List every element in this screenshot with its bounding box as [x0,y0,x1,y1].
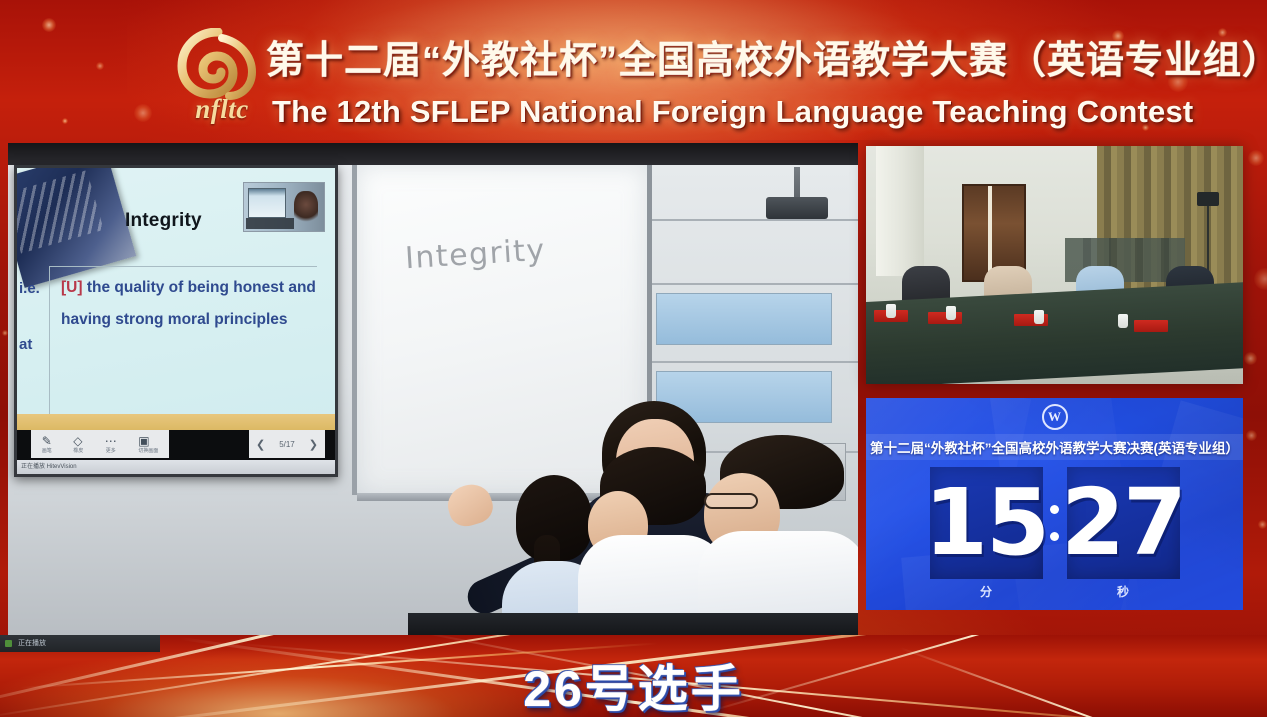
dictionary-book-icon [17,168,136,288]
slide-taskbar: 正在播放 HitevVision [17,460,335,474]
contestant-caption: 26号选手 [0,649,1267,717]
eraser-label: 橡皮 [73,447,83,454]
eraser-tool[interactable]: ◇ 橡皮 [73,435,83,454]
nfltc-wordmark: nfltc [168,94,276,125]
water-cup-1 [886,304,896,318]
student-3-glasses-icon [704,493,758,509]
hall-pillar [876,146,924,276]
more-label: 更多 [105,447,117,454]
nfltc-spiral-logo-icon [176,28,260,100]
projection-screen[interactable]: Integrity i.e. at [U] the quality of bei… [14,165,338,477]
chevron-left-icon[interactable]: ❮ [256,438,265,451]
presentation-slide: Integrity i.e. at [U] the quality of bei… [17,168,335,474]
ceiling-strip [8,143,858,165]
projector-arm [794,167,800,201]
name-card-2 [928,312,962,324]
slide-title: Integrity [125,210,202,232]
main-lecture-video-feed[interactable]: Integrity Integrity i.e. at [U] the qual… [8,143,858,635]
minutes-unit-label: 分 [930,583,1043,600]
contest-emblem-icon: W [1042,404,1068,430]
seconds-display: 27 [1067,467,1180,579]
screen-icon: ▣ [138,435,158,447]
countdown-timer-panel[interactable]: W 第十二届“外教社杯”全国高校外语教学大赛决赛(英语专业组） 15 27 分 … [866,398,1243,610]
water-cup-4 [1118,314,1128,328]
pen-icon: ✎ [42,435,52,447]
slide-page-nav[interactable]: ❮ 5/17 ❯ [249,430,325,458]
water-cup-3 [1034,310,1044,324]
desk-edge [408,613,858,635]
slide-pos-marker: [U] [61,279,83,296]
slide-definition-line1: [U] the quality of being honest and [61,278,333,298]
screen-switch-tool[interactable]: ▣ 切换画面 [138,435,158,454]
judges-camera-feed[interactable] [866,146,1243,384]
more-icon: ⋯ [105,435,117,447]
slide-toolbar-left[interactable]: ✎ 画笔 ◇ 橡皮 ⋯ 更多 ▣ 切换画面 [31,430,169,458]
slide-at-label: at [19,336,32,353]
more-tool[interactable]: ⋯ 更多 [105,435,117,454]
slide-bottom-bar [17,414,335,430]
page-indicator: 5/17 [279,440,295,449]
name-card-4 [1134,320,1168,332]
timer-contest-title: 第十二届“外教社杯”全国高校外语教学大赛决赛(英语专业组） [866,434,1243,460]
students-foreground [408,435,858,635]
nfltc-logo: nfltc [168,28,276,132]
video-thumbnail-icon[interactable] [243,182,325,232]
bottom-caption-band: 正在播放 26号选手 [0,635,1267,717]
timer-unit-labels: 分 秒 [866,583,1243,600]
contest-header-banner: nfltc 第十二届“外教社杯”全国高校外语教学大赛（英语专业组） The 12… [0,0,1267,140]
pen-tool[interactable]: ✎ 画笔 [42,435,52,454]
slide-divider [49,266,317,267]
slide-definition-text1: the quality of being honest and [87,279,316,296]
broadcast-frame: nfltc 第十二届“外教社杯”全国高校外语教学大赛（英语专业组） The 12… [0,0,1267,717]
timer-clock: 15 27 [866,464,1243,582]
projector-icon [766,197,828,219]
contest-title-chinese: 第十二届“外教社杯”全国高校外语教学大赛（英语专业组） [266,33,1126,89]
pen-label: 画笔 [42,447,52,454]
student-3 [698,435,858,635]
seconds-value: 27 [1061,477,1185,569]
chevron-right-icon[interactable]: ❯ [309,438,318,451]
minutes-display: 15 [930,467,1043,579]
emblem-glyph: W [1048,409,1061,425]
slide-ie-label: i.e. [19,280,40,297]
thumbnail-tag [246,218,294,229]
whiteboard-handwriting: Integrity [404,233,547,277]
water-cup-2 [946,306,956,320]
seconds-unit-label: 秒 [1067,583,1180,600]
slide-definition-line2: having strong moral principles [61,310,333,330]
minutes-value: 15 [924,477,1048,569]
eraser-icon: ◇ [73,435,83,447]
camera-tripod [1207,204,1209,274]
screen-label: 切换画面 [138,447,158,454]
contest-title-english: The 12th SFLEP National Foreign Language… [272,92,1132,132]
